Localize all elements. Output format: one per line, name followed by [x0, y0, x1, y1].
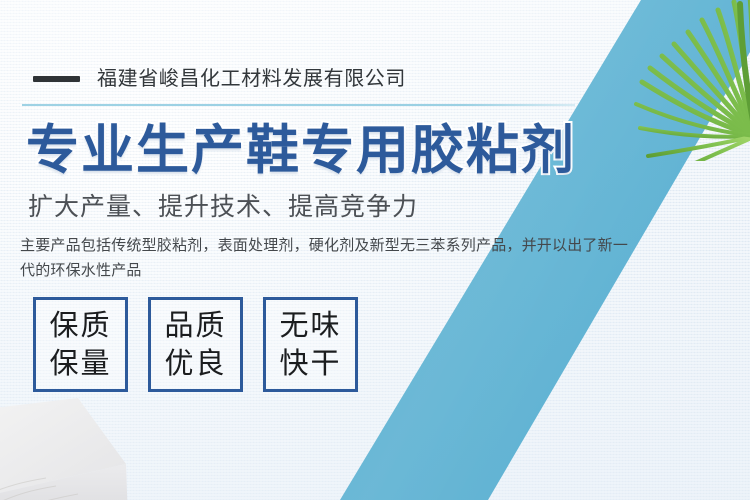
feature-badges: 保质 保量 品质 优良 无味 快干: [33, 297, 358, 392]
badge-line-2: 保量: [49, 346, 111, 382]
badge-line-1: 品质: [164, 308, 226, 344]
badge-excellent-quality: 品质 优良: [148, 297, 243, 392]
description-block: 主要产品包括传统型胶粘剂，表面处理剂，硬化剂及新型无三苯系列产品，并开以出了新一…: [20, 233, 630, 283]
description-line-1: 主要产品包括传统型胶粘剂，表面处理剂，硬化剂及新型无三苯系列产品，并开以: [20, 237, 567, 254]
header-divider: [22, 104, 575, 106]
badge-quality-quantity: 保质 保量: [33, 297, 128, 392]
company-name: 福建省峻昌化工材料发展有限公司: [97, 68, 406, 90]
promo-banner: 福建省峻昌化工材料发展有限公司 专业生产鞋专用胶粘剂 扩大产量、提升技术、提高竞…: [0, 0, 750, 500]
badge-odorless-fastdry: 无味 快干: [263, 297, 358, 392]
subheadline: 扩大产量、提升技术、提高竞争力: [28, 192, 418, 222]
badge-line-2: 快干: [279, 346, 341, 382]
headline: 专业生产鞋专用胶粘剂: [26, 120, 576, 182]
badge-line-1: 无味: [279, 308, 341, 344]
badge-line-1: 保质: [49, 308, 111, 344]
badge-line-2: 优良: [164, 346, 226, 382]
brand-row: 福建省峻昌化工材料发展有限公司: [33, 68, 406, 90]
dash-rule-icon: [33, 76, 80, 82]
